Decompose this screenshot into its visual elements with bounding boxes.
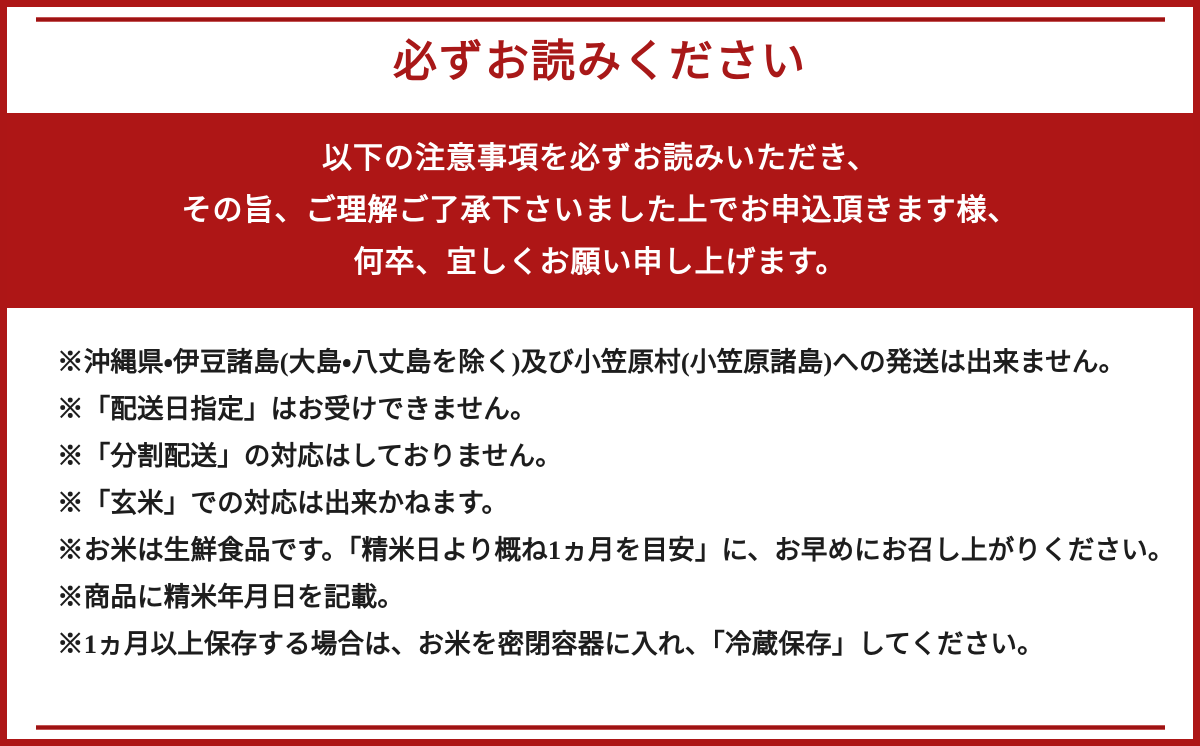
notice-banner: 必ずお読みください 以下の注意事項を必ずお読みいただき、 その旨、ご理解ご了承下… [0,0,1200,746]
list-item: ※お米は生鮮食品です。「精米日より概ね1ヵ月を目安」に、お早めにお召し上がりくだ… [57,527,1173,574]
bottom-divider-rule [36,725,1165,730]
lead-message-band: 以下の注意事項を必ずお読みいただき、 その旨、ご理解ご了承下さいました上でお申込… [0,113,1200,308]
top-divider-rule [36,17,1165,22]
lead-line-1: 以下の注意事項を必ずお読みいただき、 [322,133,878,185]
lead-line-3: 何卒、宜しくお願い申し上げます。 [354,237,847,289]
title-band: 必ずお読みください [7,7,1193,113]
list-item: ※商品に精米年月日を記載。 [57,574,1173,621]
lead-line-2: その旨、ご理解ご了承下さいました上でお申込頂きます様、 [182,185,1019,237]
page-title: 必ずお読みください [7,34,1193,90]
notes-list: ※沖縄県・伊豆諸島(大島・八丈島を除く)及び小笠原村(小笠原諸島)への発送は出来… [57,339,1173,668]
list-item: ※「分割配送」の対応はしておりません。 [57,433,1173,480]
list-item: ※沖縄県・伊豆諸島(大島・八丈島を除く)及び小笠原村(小笠原諸島)への発送は出来… [57,339,1173,386]
notes-body: ※沖縄県・伊豆諸島(大島・八丈島を除く)及び小笠原村(小笠原諸島)への発送は出来… [7,308,1193,739]
list-item: ※「配送日指定」はお受けできません。 [57,386,1173,433]
list-item: ※「玄米」での対応は出来かねます。 [57,480,1173,527]
list-item: ※1ヵ月以上保存する場合は、お米を密閉容器に入れ、「冷蔵保存」してください。 [57,621,1173,668]
